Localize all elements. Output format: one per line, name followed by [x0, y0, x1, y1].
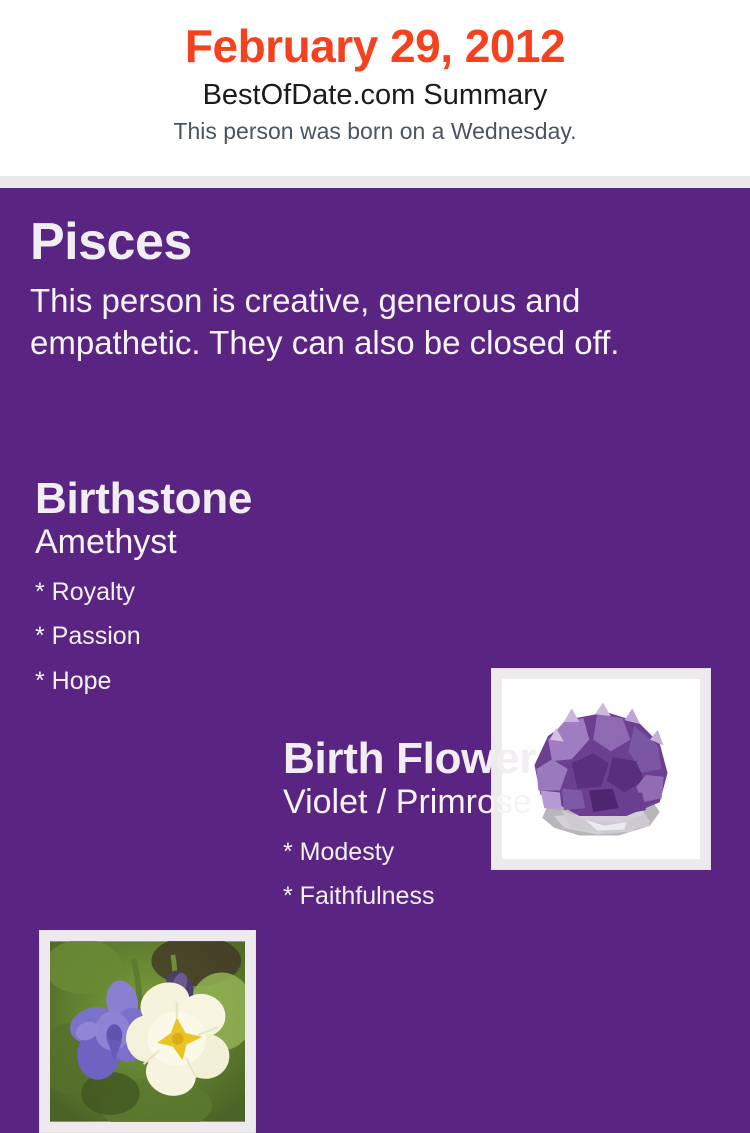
- birthstone-section: Birthstone Amethyst * Royalty * Passion …: [35, 476, 465, 703]
- zodiac-section: Pisces This person is creative, generous…: [30, 188, 720, 364]
- birth-flower-section: Birth Flower Violet / Primrose * Modesty…: [283, 736, 723, 919]
- list-item: * Passion: [35, 614, 465, 659]
- birth-flower-name: Violet / Primrose: [283, 784, 723, 821]
- header-divider: [0, 176, 750, 188]
- birth-flower-photo-frame: [39, 930, 256, 1133]
- birthstone-trait-list: * Royalty * Passion * Hope: [35, 570, 465, 704]
- zodiac-description: This person is creative, generous and em…: [30, 280, 710, 364]
- list-item: * Faithfulness: [283, 874, 723, 919]
- violet-primrose-icon: [50, 941, 245, 1122]
- list-item: * Hope: [35, 659, 465, 704]
- page-header: February 29, 2012 BestOfDate.com Summary…: [0, 0, 750, 176]
- birth-flower-trait-list: * Modesty * Faithfulness: [283, 830, 723, 919]
- summary-panel: Pisces This person is creative, generous…: [0, 188, 750, 1000]
- birth-weekday-text: This person was born on a Wednesday.: [0, 118, 750, 144]
- birthstone-heading: Birthstone: [35, 476, 465, 522]
- zodiac-sign-name: Pisces: [30, 216, 720, 268]
- site-summary-label: BestOfDate.com Summary: [0, 79, 750, 111]
- birth-flower-photo: [50, 941, 245, 1122]
- list-item: * Modesty: [283, 830, 723, 875]
- birthstone-name: Amethyst: [35, 524, 465, 561]
- list-item: * Royalty: [35, 570, 465, 615]
- page-title: February 29, 2012: [0, 22, 750, 72]
- birth-flower-heading: Birth Flower: [283, 736, 723, 782]
